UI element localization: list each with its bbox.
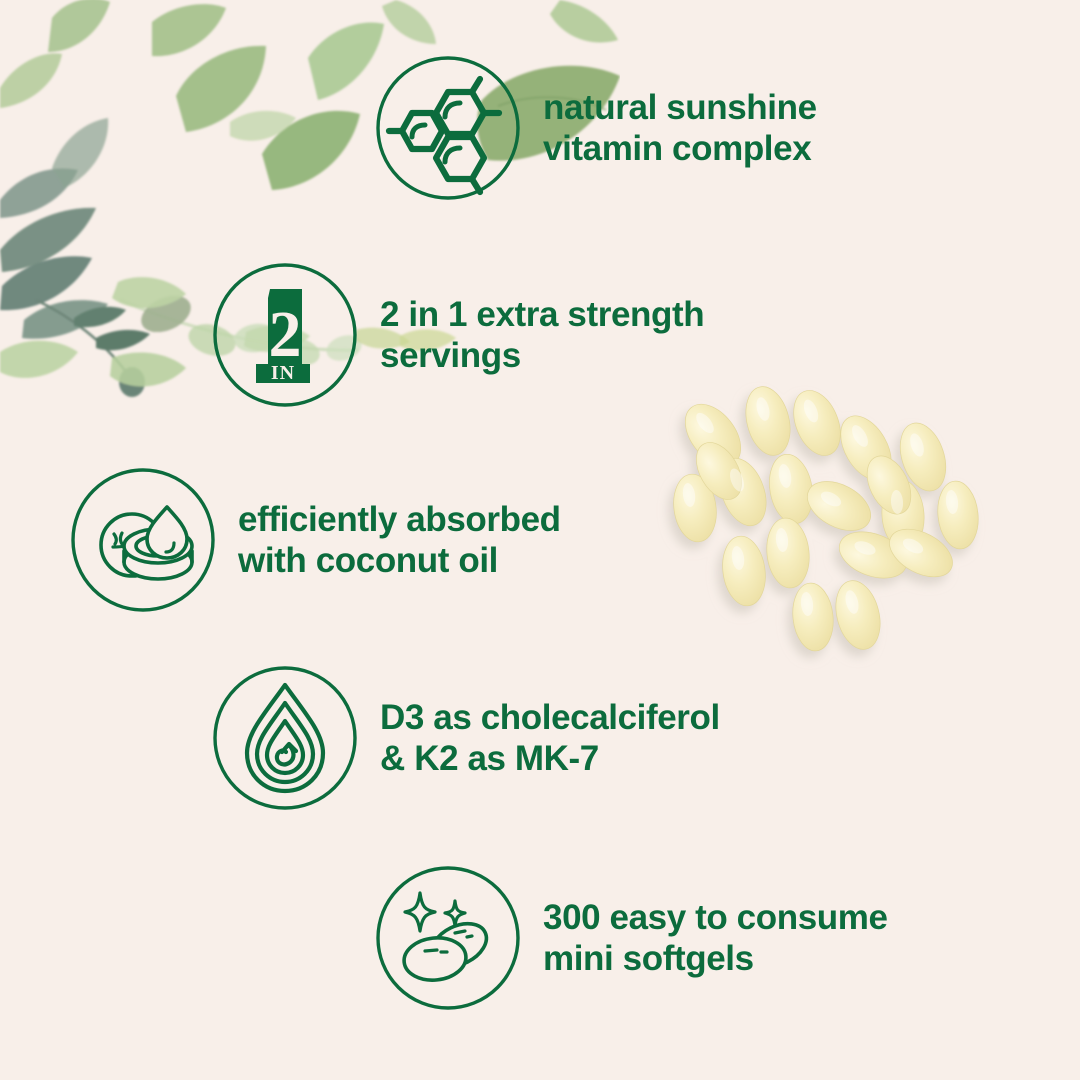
feature-label: 2 in 1 extra strength servings: [380, 294, 704, 376]
softgel-capsule-pile-photo: [655, 375, 1000, 675]
feature-row-two-in-one: 2 IN 2 in 1 extra strength servings: [212, 262, 704, 408]
feature-row-mini-softgels: 300 easy to consume mini softgels: [375, 865, 888, 1011]
softgels-sparkle-icon: [375, 865, 521, 1011]
product-benefits-graphic: natural sunshine vitamin complex 2 IN 2 …: [0, 0, 1080, 1080]
badge-in-label: IN: [271, 362, 295, 384]
feature-label: natural sunshine vitamin complex: [543, 87, 817, 169]
droplet-spiral-icon: [212, 665, 358, 811]
feature-label: efficiently absorbed with coconut oil: [238, 499, 561, 581]
feature-label: 300 easy to consume mini softgels: [543, 897, 888, 979]
feature-row-coconut-oil: efficiently absorbed with coconut oil: [70, 467, 561, 613]
molecule-hexagons-icon: [375, 55, 521, 201]
coconut-oil-droplet-icon: [70, 467, 216, 613]
badge-number: 2: [269, 298, 302, 371]
two-in-one-badge-icon: 2 IN: [212, 262, 358, 408]
feature-row-d3-k2: D3 as cholecalciferol & K2 as MK-7: [212, 665, 720, 811]
feature-label: D3 as cholecalciferol & K2 as MK-7: [380, 697, 720, 779]
feature-row-natural-sunshine: natural sunshine vitamin complex: [375, 55, 817, 201]
